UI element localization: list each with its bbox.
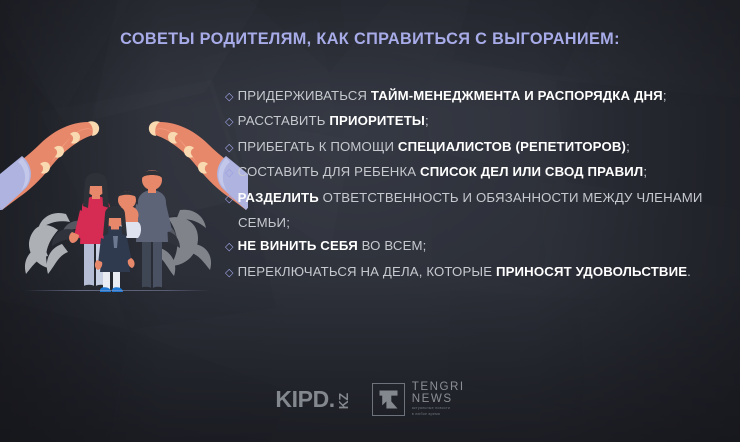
tip-enjoyable-activities: ◇ПЕРЕКЛЮЧАТЬСЯ НА ДЕЛА, КОТОРЫЕ ПРИНОСЯТ… bbox=[225, 260, 725, 285]
tip-priorities: ◇РАССТАВИТЬ ПРИОРИТЕТЫ; bbox=[225, 109, 725, 134]
tip-text: СОСТАВИТЬ ДЛЯ РЕБЕНКА СПИСОК ДЕЛ ИЛИ СВО… bbox=[238, 164, 648, 179]
footer-logos: KIPD. KZ TENGRI NEWS актуальные новости … bbox=[0, 378, 740, 420]
tengri-tagline-1: актуальные новости bbox=[412, 406, 465, 411]
tip-specialists: ◇ПРИБЕГАТЬ К ПОМОЩИ СПЕЦИАЛИСТОВ (РЕПЕТИ… bbox=[225, 135, 725, 160]
diamond-bullet-icon: ◇ bbox=[225, 116, 234, 128]
tip-text: ПЕРЕКЛЮЧАТЬСЯ НА ДЕЛА, КОТОРЫЕ ПРИНОСЯТ … bbox=[238, 264, 691, 279]
diamond-bullet-icon: ◇ bbox=[225, 167, 234, 179]
protective-hands-family-illustration bbox=[0, 118, 248, 303]
tip-text: РАССТАВИТЬ ПРИОРИТЕТЫ; bbox=[238, 113, 429, 128]
tip-text: НЕ ВИНИТЬ СЕБЯ ВО ВСЕМ; bbox=[238, 238, 427, 253]
page-title: СОВЕТЫ РОДИТЕЛЯМ, КАК СПРАВИТЬСЯ С ВЫГОР… bbox=[0, 30, 740, 49]
ground-line bbox=[24, 290, 210, 291]
kipd-kz-suffix: KZ bbox=[338, 393, 350, 409]
tengri-mark-icon bbox=[372, 383, 405, 416]
tengri-wordmark: TENGRI NEWS актуальные новости в любое в… bbox=[412, 381, 465, 416]
tip-time-management: ◇ПРИДЕРЖИВАТЬСЯ ТАЙМ-МЕНЕДЖМЕНТА И РАСПО… bbox=[225, 84, 725, 109]
diamond-bullet-icon: ◇ bbox=[225, 91, 234, 103]
tengri-glyph-icon bbox=[378, 389, 399, 410]
tip-share-duties: ◇РАЗДЕЛИТЬ ОТВЕТСТВЕННОСТЬ И ОБЯЗАННОСТИ… bbox=[225, 186, 725, 235]
tip-text: ПРИБЕГАТЬ К ПОМОЩИ СПЕЦИАЛИСТОВ (РЕПЕТИТ… bbox=[238, 139, 630, 154]
tengri-news-logo[interactable]: TENGRI NEWS актуальные новости в любое в… bbox=[372, 381, 465, 416]
infographic-canvas: СОВЕТЫ РОДИТЕЛЯМ, КАК СПРАВИТЬСЯ С ВЫГОР… bbox=[0, 0, 740, 442]
tip-text: ПРИДЕРЖИВАТЬСЯ ТАЙМ-МЕНЕДЖМЕНТА И РАСПОР… bbox=[238, 88, 667, 103]
tip-no-self-blame: ◇НЕ ВИНИТЬ СЕБЯ ВО ВСЕМ; bbox=[225, 234, 725, 259]
diamond-bullet-icon: ◇ bbox=[225, 241, 234, 253]
kipd-logo[interactable]: KIPD. KZ bbox=[275, 388, 349, 411]
family-group bbox=[69, 170, 172, 293]
diamond-bullet-icon: ◇ bbox=[225, 142, 234, 154]
diamond-bullet-icon: ◇ bbox=[225, 267, 234, 279]
tips-list: ◇ПРИДЕРЖИВАТЬСЯ ТАЙМ-МЕНЕДЖМЕНТА И РАСПО… bbox=[225, 84, 725, 285]
tengri-tagline-2: в любое время bbox=[412, 412, 465, 417]
tengri-line-2: NEWS bbox=[412, 393, 465, 405]
diamond-bullet-icon: ◇ bbox=[225, 193, 234, 205]
tip-todo-list: ◇СОСТАВИТЬ ДЛЯ РЕБЕНКА СПИСОК ДЕЛ ИЛИ СВ… bbox=[225, 160, 725, 185]
kipd-wordmark: KIPD. bbox=[275, 388, 334, 411]
tip-text: РАЗДЕЛИТЬ ОТВЕТСТВЕННОСТЬ И ОБЯЗАННОСТИ … bbox=[238, 190, 703, 230]
